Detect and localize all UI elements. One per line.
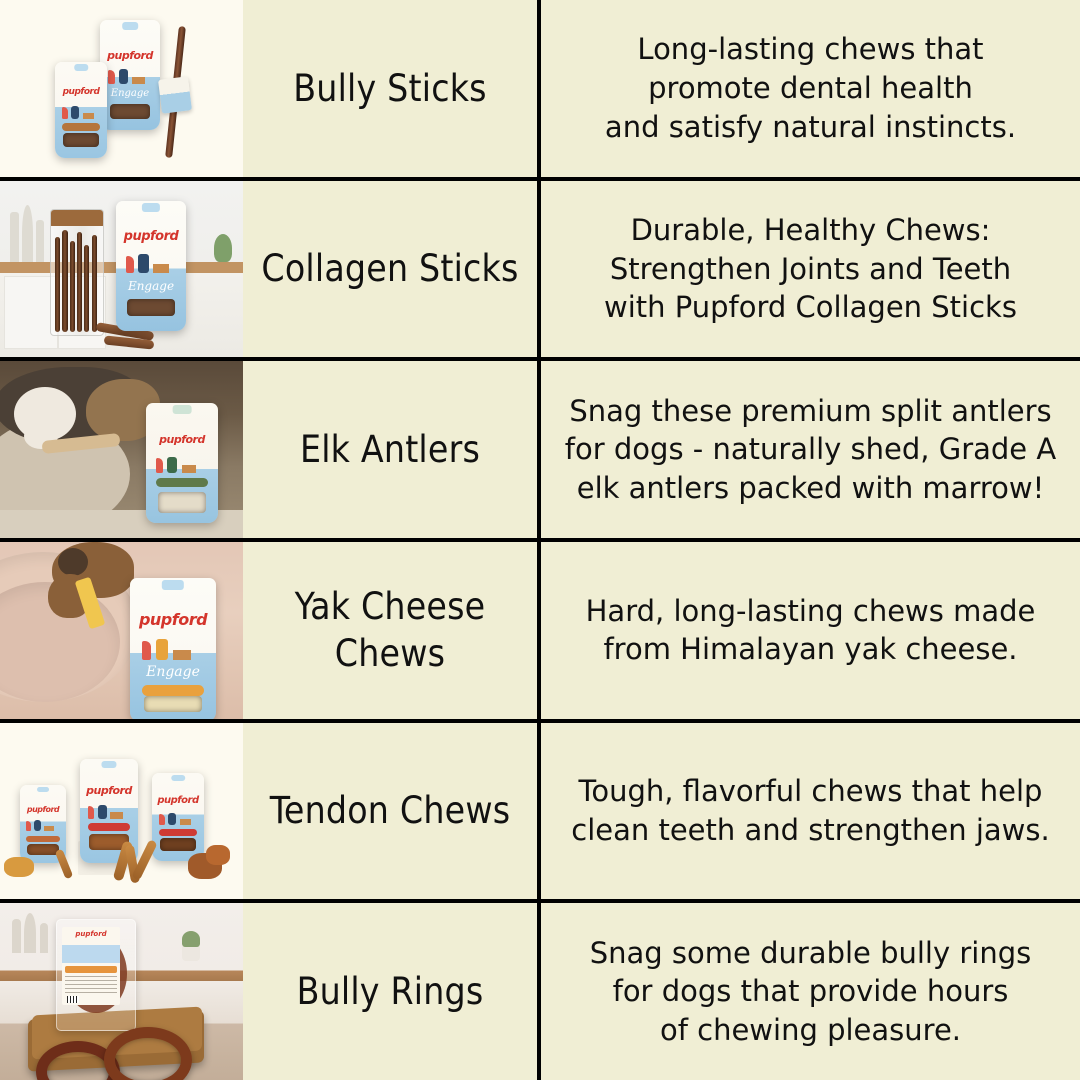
product-image-cell: pupford [0, 361, 243, 538]
table-row: pupford Engage Yak Cheese Chews Hard, lo… [0, 542, 1080, 723]
product-name: Yak Cheese Chews [295, 583, 486, 678]
product-name: Bully Sticks [293, 65, 486, 112]
product-description: Tough, flavorful chews that help clean t… [571, 772, 1049, 849]
product-name: Tendon Chews [270, 787, 511, 834]
product-description: Hard, long-lasting chews made from Himal… [586, 592, 1036, 669]
product-description-cell: Durable, Healthy Chews: Strengthen Joint… [541, 181, 1080, 358]
table-row: pupford pupford [0, 723, 1080, 904]
product-description: Snag some durable bully rings for dogs t… [590, 934, 1032, 1050]
product-description-cell: Snag some durable bully rings for dogs t… [541, 903, 1080, 1080]
product-description-cell: Tough, flavorful chews that help clean t… [541, 723, 1080, 900]
table-row: pupford Engage Collagen Sticks Durable, … [0, 181, 1080, 362]
table-row: pupford Elk Antlers Snag these premium s… [0, 361, 1080, 542]
product-image-cell: pupford [0, 903, 243, 1080]
table-row: pupford Bully Rings Snag some durable bu… [0, 903, 1080, 1080]
product-image-cell: pupford pupford [0, 723, 243, 900]
product-description-cell: Long-lasting chews that promote dental h… [541, 0, 1080, 177]
product-photo-elk-antlers: pupford [0, 361, 243, 538]
product-name: Elk Antlers [300, 426, 480, 473]
product-description-cell: Hard, long-lasting chews made from Himal… [541, 542, 1080, 719]
product-photo-collagen-sticks: pupford Engage [0, 181, 243, 358]
product-name: Bully Rings [297, 968, 484, 1015]
product-description: Long-lasting chews that promote dental h… [605, 30, 1016, 146]
product-name-cell: Tendon Chews [243, 723, 541, 900]
product-name-cell: Bully Sticks [243, 0, 541, 177]
product-comparison-table: pupford Engage pupford [0, 0, 1080, 1080]
product-image-cell: pupford Engage [0, 542, 243, 719]
product-description: Snag these premium split antlers for dog… [565, 392, 1056, 508]
product-image-cell: pupford Engage [0, 181, 243, 358]
product-description: Durable, Healthy Chews: Strengthen Joint… [604, 211, 1017, 327]
product-image-cell: pupford Engage pupford [0, 0, 243, 177]
product-name-cell: Elk Antlers [243, 361, 541, 538]
table-row: pupford Engage pupford [0, 0, 1080, 181]
product-photo-bully-sticks: pupford Engage pupford [0, 0, 243, 177]
product-photo-yak-cheese-chews: pupford Engage [0, 542, 243, 719]
product-photo-tendon-chews: pupford pupford [0, 723, 243, 900]
product-photo-bully-rings: pupford [0, 903, 243, 1080]
product-name-cell: Collagen Sticks [243, 181, 541, 358]
product-name-cell: Yak Cheese Chews [243, 542, 541, 719]
product-description-cell: Snag these premium split antlers for dog… [541, 361, 1080, 538]
product-name-cell: Bully Rings [243, 903, 541, 1080]
product-name: Collagen Sticks [261, 245, 518, 292]
